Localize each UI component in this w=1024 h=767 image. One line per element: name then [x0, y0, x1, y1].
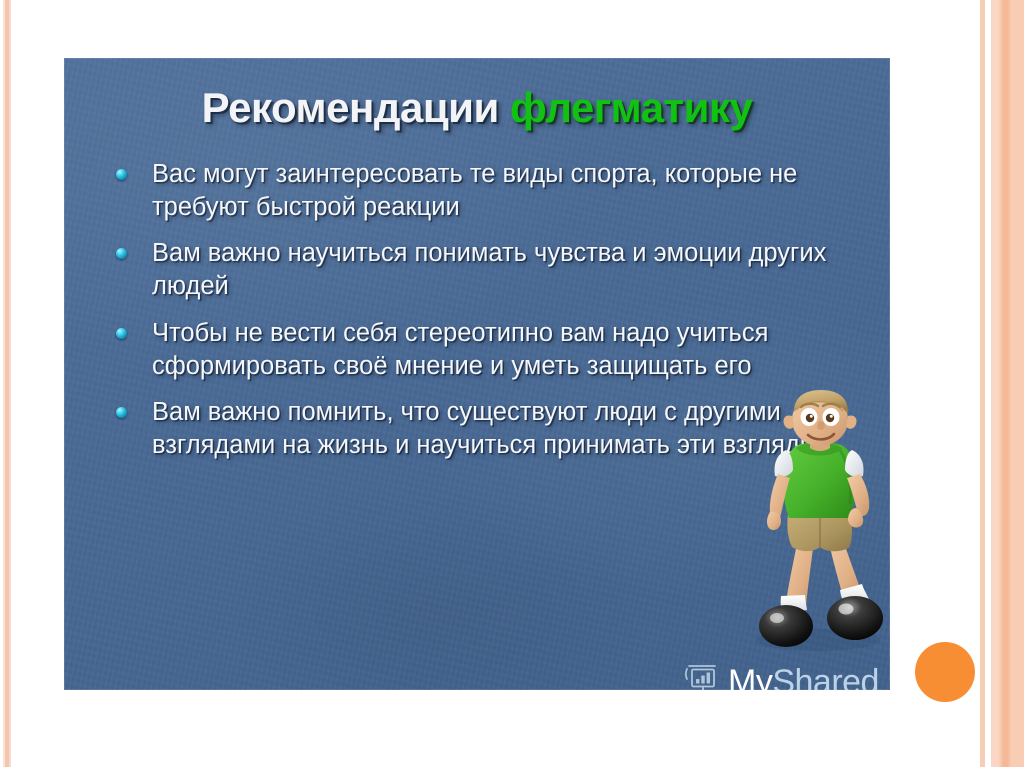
slide-title-main: Рекомендации — [202, 84, 499, 131]
slide-title-space — [499, 84, 510, 131]
watermark-text-my: My — [728, 663, 772, 690]
watermark-text-shared: Shared — [772, 663, 879, 690]
bullet-text: Чтобы не вести себя стереотипно вам надо… — [152, 317, 862, 383]
bullet-text: Вас могут заинтересовать те виды спорта,… — [152, 158, 862, 224]
slide-title-accent: флегматику — [510, 84, 752, 131]
page-border-left — [3, 0, 11, 767]
presentation-slide: Рекомендации флегматику Вас могут заинте… — [64, 58, 890, 690]
bullet-item: Вам важно научиться понимать чувства и э… — [108, 237, 862, 303]
bullet-item: Вас могут заинтересовать те виды спорта,… — [108, 158, 862, 224]
myshared-watermark: MyShared — [684, 662, 879, 690]
slide-title: Рекомендации флегматику — [64, 84, 890, 132]
bullet-item: Чтобы не вести себя стереотипно вам надо… — [108, 317, 862, 383]
slide-content: Рекомендации флегматику Вас могут заинте… — [64, 58, 890, 690]
bullet-sphere-icon — [116, 328, 127, 339]
page-border-right-wide — [991, 0, 1024, 767]
bullet-sphere-icon — [116, 169, 127, 180]
bullet-sphere-icon — [116, 407, 127, 418]
bullet-sphere-icon — [116, 248, 127, 259]
bullet-text: Вам важно научиться понимать чувства и э… — [152, 237, 862, 303]
cartoon-boy-illustration — [736, 390, 890, 660]
accent-dot — [915, 642, 975, 702]
presentation-chart-icon — [684, 662, 722, 690]
watermark-text: MyShared — [728, 663, 879, 690]
page-border-right-thin — [980, 0, 985, 767]
